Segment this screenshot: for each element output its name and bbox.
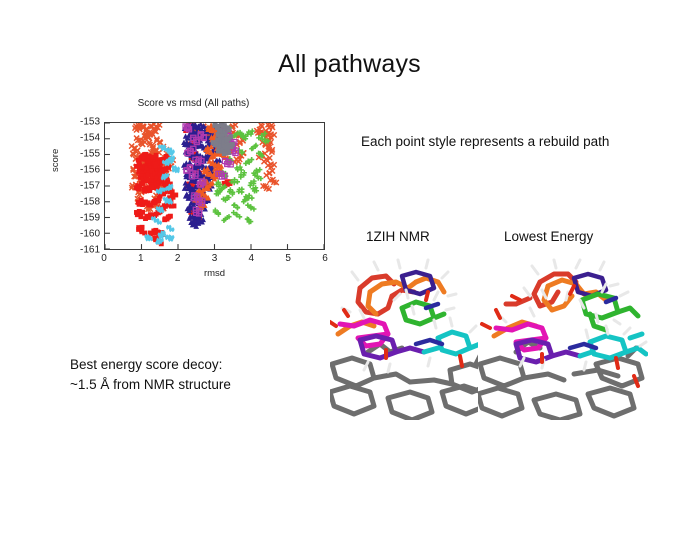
chart-y-tick-label: -153 [80,117,100,128]
chart-y-tick-label: -157 [80,181,100,192]
chart-x-axis-label: rmsd [104,268,325,279]
chart-data-point [217,128,222,133]
chart-x-tick-label: 3 [212,253,218,264]
strand-magenta [496,324,546,350]
chart-data-point [157,196,162,201]
chart-y-axis-ticks: -153-154-155-156-157-158-159-160-161 [56,122,100,250]
chart-y-tick-label: -156 [80,165,100,176]
chart-y-tick-label: -160 [80,229,100,240]
chart-x-axis-ticks: 0123456 [104,253,325,267]
chart-points-layer [105,123,324,249]
chart-data-point [224,138,229,143]
chart-data-point [162,217,167,222]
best-decoy-note-line2: ~1.5 Å from NMR structure [70,375,320,395]
chart-title: Score vs rmsd (All paths) [56,98,331,109]
chart-data-point [139,198,144,203]
scatter-plot-figure: Score vs rmsd (All paths) score -153-154… [56,98,331,263]
chart-y-tick-label: -158 [80,197,100,208]
best-decoy-note: Best energy score decoy: ~1.5 Å from NMR… [70,355,320,394]
molecule-nmr-svg [330,252,493,420]
chart-data-point [154,153,159,158]
page-title: All pathways [0,50,699,79]
chart-y-tick-label: -161 [80,245,100,256]
chart-y-tick-label: -154 [80,133,100,144]
chart-data-point [140,210,145,215]
slide-canvas: All pathways Score vs rmsd (All paths) s… [0,0,699,540]
molecule-lowest-svg [478,252,648,420]
chart-x-tick-label: 2 [175,253,181,264]
rebuild-path-note: Each point style represents a rebuild pa… [361,132,611,151]
structure-caption-nmr: 1ZIH NMR [366,229,430,244]
chart-data-point [149,185,154,190]
chart-x-tick-label: 4 [249,253,255,264]
chart-data-point [157,221,162,225]
best-decoy-note-line1: Best energy score decoy: [70,355,320,375]
gray-base-stack [330,344,492,420]
chart-y-tick-label: -155 [80,149,100,160]
chart-data-point [222,151,227,156]
structure-caption-lowest-energy: Lowest Energy [504,229,593,244]
chart-data-point [158,145,163,149]
molecule-render-nmr [330,252,493,420]
chart-data-point [226,128,231,133]
strand-magenta [340,320,388,346]
molecule-render-lowest-energy [478,252,648,420]
chart-plot-area [104,122,325,250]
chart-data-point [165,179,170,184]
chart-data-point [164,154,169,159]
chart-data-point [142,189,147,194]
chart-y-tick-label: -159 [80,213,100,224]
chart-x-tick-label: 6 [322,253,328,264]
chart-x-tick-label: 0 [101,253,107,264]
chart-x-tick-label: 5 [285,253,291,264]
chart-x-tick-label: 1 [138,253,144,264]
chart-data-point [173,193,178,198]
chart-data-point [147,178,152,183]
chart-data-point [145,159,150,164]
chart-data-point [230,142,235,147]
chart-data-point [214,142,219,147]
chart-data-point [136,187,141,192]
